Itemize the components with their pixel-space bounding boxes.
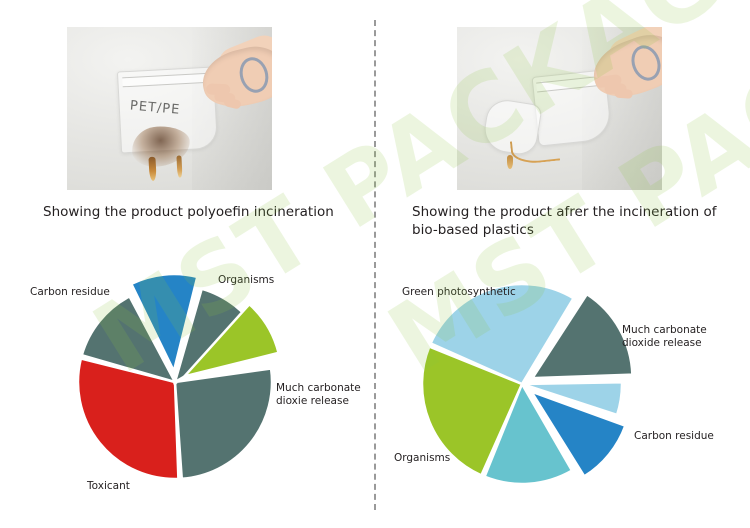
page-root: PET/PE Showing the product p [0,0,750,528]
label-organisms: Organisms [394,452,484,465]
label-toxicant: Toxicant [87,480,177,493]
chart-polyolefin-incineration: Carbon residue Organisms Much carbonate … [12,262,372,517]
bag-zipper [122,73,210,88]
chart-biobased-incineration: Green photosynthetic Much carbonate diox… [382,262,748,517]
photo-polyolefin-incineration: PET/PE [67,27,272,190]
pie-slice [175,369,272,479]
label-carbon-residue: Carbon residue [30,286,130,299]
bag-label-text: PET/PE [129,98,181,117]
caption-right: Showing the product afrer the incinerati… [412,203,732,239]
label-green-photosynthetic: Green photosynthetic [402,286,542,299]
melt-drip-secondary [176,155,182,177]
label-carbon-residue: Carbon residue [634,430,734,443]
melt-drip [148,157,156,181]
caption-left: Showing the product polyoefin incinerati… [43,203,363,221]
pie-slices-left [78,274,279,479]
finger [614,89,633,99]
melt-drip [507,155,513,169]
pie-svg-right [382,262,748,517]
vertical-divider [374,20,376,510]
photo-biobased-incineration [457,27,662,190]
label-organisms: Organisms [218,274,308,287]
label-much-carbonate-dioxide-release: Much carbonate dioxide release [622,324,732,350]
label-much-carbonate-dioxide-release: Much carbonate dioxie release [276,382,368,408]
